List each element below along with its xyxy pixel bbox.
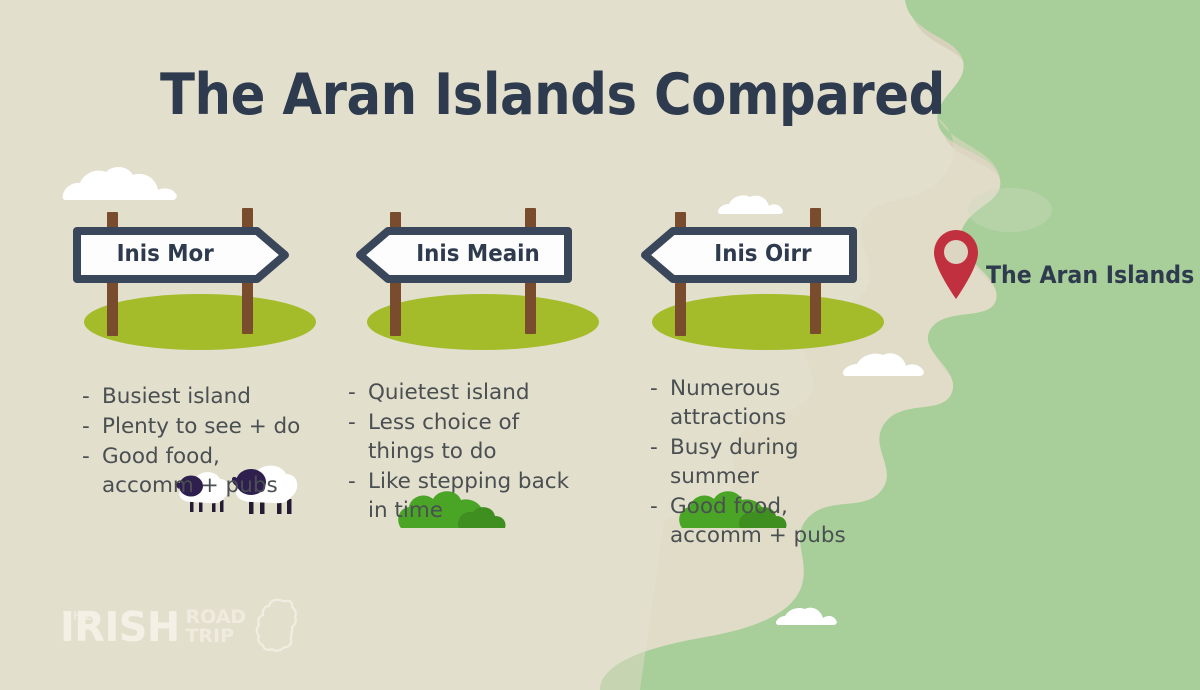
bullet-text: Numerousattractions — [670, 374, 900, 432]
sign-board[interactable]: Inis Mor — [72, 226, 290, 284]
bullet-item: -Less choice ofthings to do — [348, 408, 598, 466]
sign-board[interactable]: Inis Oirr — [640, 226, 858, 284]
bullet-text: Busiest island — [102, 382, 332, 411]
bullet-item: -Good food,accomm + pubs — [650, 492, 900, 550]
map-pin-icon — [930, 228, 982, 300]
sign-label: Inis Oirr — [648, 226, 851, 284]
bullet-marker: - — [82, 382, 102, 411]
bullet-marker: - — [82, 442, 102, 471]
bullet-text: Good food,accomm + pubs — [102, 442, 332, 500]
bullet-item: -Like stepping backin time — [348, 467, 598, 525]
sign-label: Inis Meain — [363, 226, 566, 284]
island-bullets-inis-oirr: -Numerousattractions-Busy duringsummer-G… — [650, 374, 900, 551]
bullet-text: Like stepping backin time — [368, 467, 598, 525]
island-sign-inis-oirr[interactable]: Inis Oirr — [620, 190, 920, 350]
sign-board[interactable]: Inis Meain — [355, 226, 573, 284]
bullet-marker: - — [650, 492, 670, 521]
bullet-marker: - — [650, 374, 670, 403]
map-pin-label: The Aran Islands — [986, 239, 1194, 289]
ground-oval — [84, 294, 316, 350]
bullet-item: -Numerousattractions — [650, 374, 900, 432]
bullet-marker: - — [82, 412, 102, 441]
bullet-marker: - — [348, 408, 368, 437]
bullet-item: -Plenty to see + do — [82, 412, 332, 441]
brand-logo[interactable]: THE IRISH ROAD TRIP — [60, 598, 300, 656]
bullet-item: -Good food,accomm + pubs — [82, 442, 332, 500]
island-sign-inis-meain[interactable]: Inis Meain — [335, 190, 635, 350]
bullet-item: -Quietest island — [348, 378, 598, 407]
bullet-text: Good food,accomm + pubs — [670, 492, 900, 550]
ground-oval — [367, 294, 599, 350]
bullet-marker: - — [348, 467, 368, 496]
island-sign-inis-mor[interactable]: Inis Mor — [52, 190, 352, 350]
island-bullets-inis-mor: -Busiest island-Plenty to see + do-Good … — [82, 382, 332, 501]
logo-trip-text: TRIP — [185, 627, 246, 646]
bullet-text: Less choice ofthings to do — [368, 408, 598, 466]
bullet-marker: - — [650, 433, 670, 462]
bullet-text: Busy duringsummer — [670, 433, 900, 491]
infographic-canvas: The Aran Islands Compared — [0, 0, 1200, 690]
bullet-item: -Busy duringsummer — [650, 433, 900, 491]
map-pin-marker[interactable]: The Aran Islands — [930, 228, 1200, 300]
page-title: The Aran Islands Compared — [160, 62, 945, 128]
sign-label: Inis Mor — [80, 226, 283, 284]
bullet-text: Plenty to see + do — [102, 412, 332, 441]
ground-oval — [652, 294, 884, 350]
bullet-text: Quietest island — [368, 378, 598, 407]
bullet-item: -Busiest island — [82, 382, 332, 411]
island-bullets-inis-meain: -Quietest island-Less choice ofthings to… — [348, 378, 598, 526]
ireland-outline-icon — [254, 598, 300, 654]
logo-irish-text: IRISH — [60, 607, 180, 647]
bullet-marker: - — [348, 378, 368, 407]
